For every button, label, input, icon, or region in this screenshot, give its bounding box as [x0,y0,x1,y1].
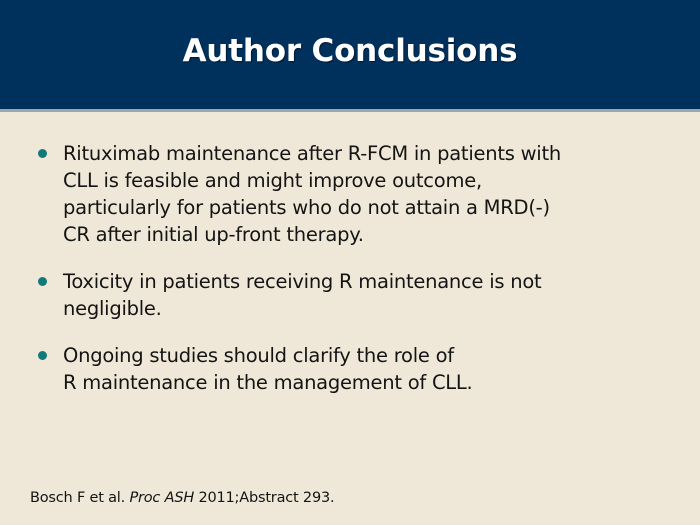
citation-reference: 2011;Abstract 293. [194,490,334,506]
citation-source: Proc ASH [129,490,194,506]
citation-authors: Bosch F et al. [30,490,129,506]
citation: Bosch F et al. Proc ASH 2011;Abstract 29… [30,489,334,508]
list-item-text: Ongoing studies should clarify the role … [63,342,670,396]
list-item-text: Toxicity in patients receiving R mainten… [63,268,670,322]
bullet-dot-icon [38,149,47,158]
title-divider-rule [0,109,700,112]
bullet-dot-icon [38,351,47,360]
list-item: Rituximab maintenance after R-FCM in pat… [30,140,670,248]
page-title: Author Conclusions [0,30,700,72]
list-item: Ongoing studies should clarify the role … [30,342,670,396]
bullet-dot-icon [38,277,47,286]
slide-canvas: Author Conclusions Rituximab maintenance… [0,0,700,525]
bullet-list: Rituximab maintenance after R-FCM in pat… [30,140,670,396]
list-item-text: Rituximab maintenance after R-FCM in pat… [63,140,670,248]
list-item: Toxicity in patients receiving R mainten… [30,268,670,322]
